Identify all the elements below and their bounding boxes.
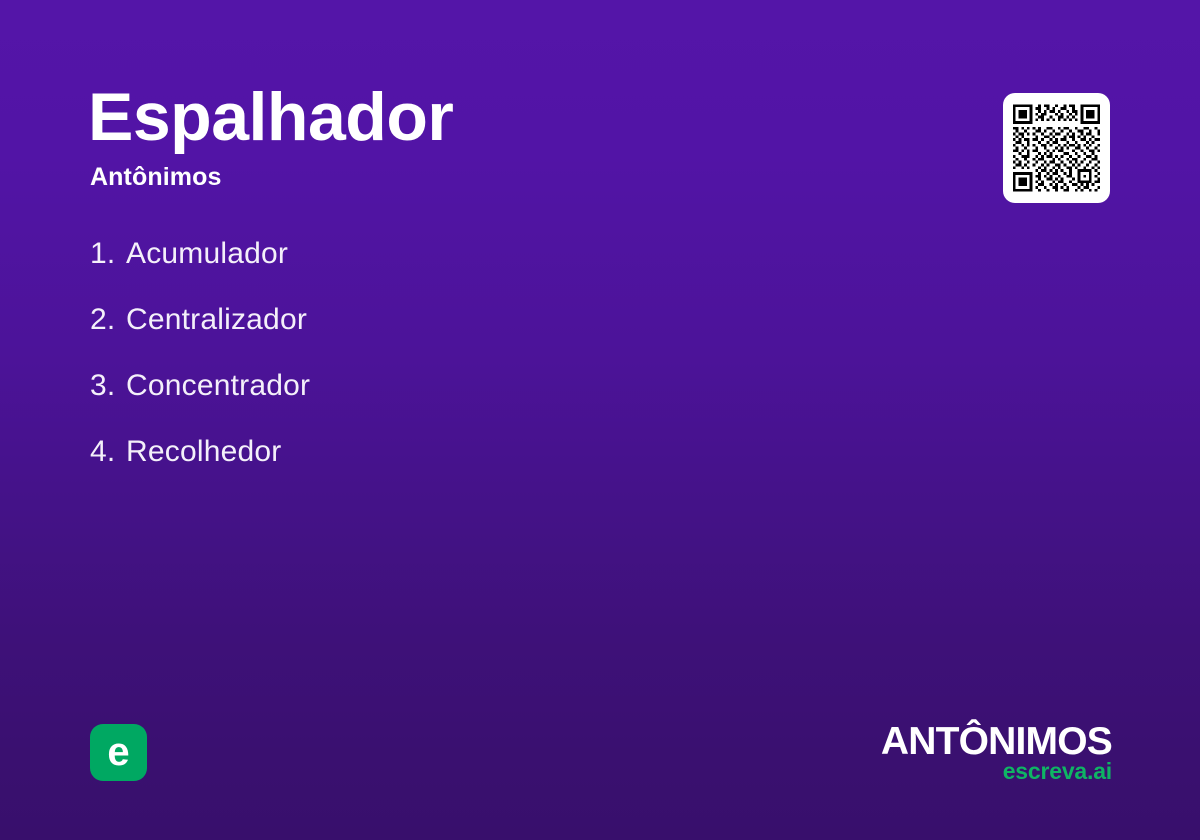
qr-code-panel[interactable]	[1003, 93, 1110, 203]
list-item-word: Concentrador	[126, 366, 310, 406]
qr-code-icon	[1010, 101, 1103, 195]
list-item-word: Centralizador	[126, 300, 307, 340]
antonym-list: 1. Acumulador 2. Centralizador 3. Concen…	[90, 234, 310, 498]
list-item-index: 3.	[90, 366, 126, 406]
footer-logo-title: ANTÔNIMOS	[881, 722, 1112, 762]
list-item: 2. Centralizador	[90, 300, 310, 366]
list-item-word: Recolhedor	[126, 432, 281, 472]
list-item-index: 4.	[90, 432, 126, 472]
antonyms-card: Espalhador Antônimos 1. Acumulador 2. Ce…	[0, 0, 1200, 840]
escreva-brand-mark[interactable]: e	[90, 724, 147, 781]
title-block: Espalhador Antônimos	[88, 78, 908, 192]
list-item-index: 2.	[90, 300, 126, 340]
list-item-word: Acumulador	[126, 234, 288, 274]
page-subtitle: Antônimos	[90, 162, 908, 192]
list-item: 3. Concentrador	[90, 366, 310, 432]
footer-logo: ANTÔNIMOS escreva.ai	[881, 722, 1112, 783]
list-item-index: 1.	[90, 234, 126, 274]
list-item: 1. Acumulador	[90, 234, 310, 300]
page-title: Espalhador	[88, 78, 908, 156]
brand-mark-letter: e	[107, 732, 129, 772]
list-item: 4. Recolhedor	[90, 432, 310, 498]
